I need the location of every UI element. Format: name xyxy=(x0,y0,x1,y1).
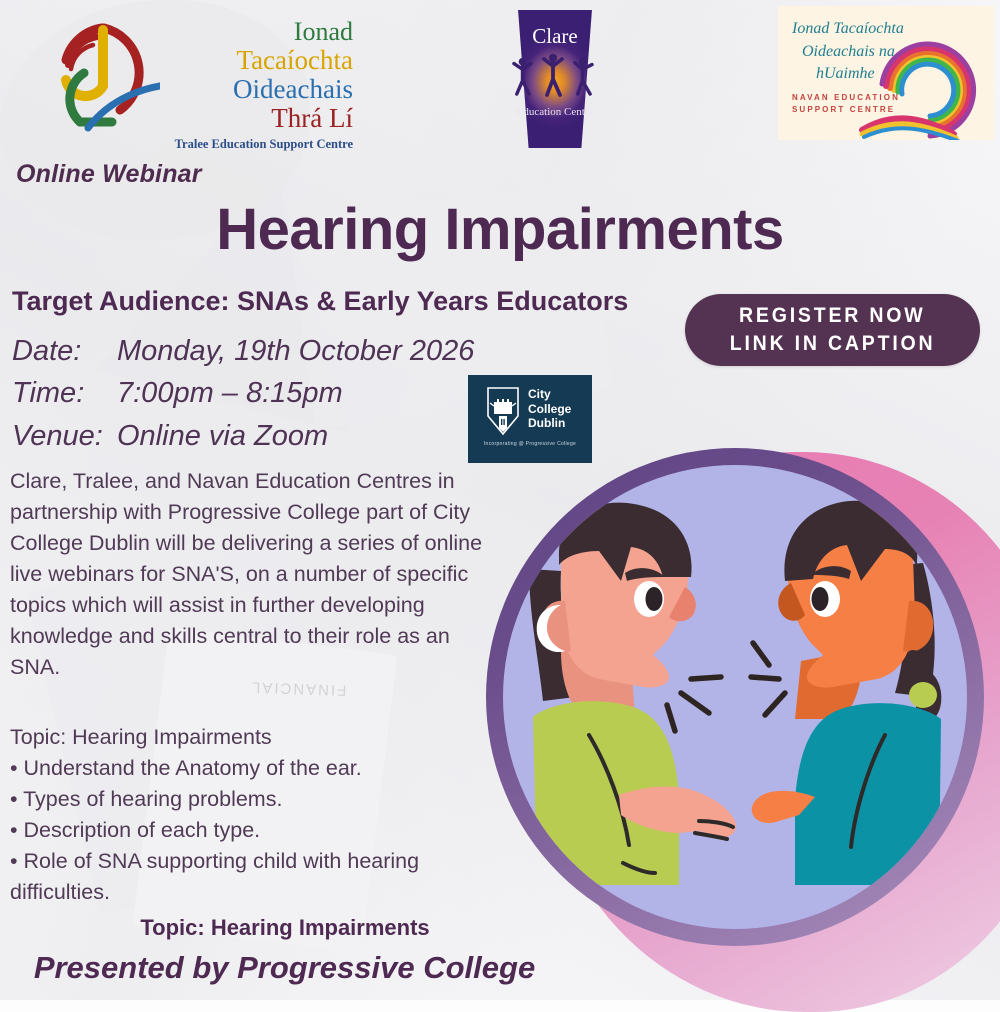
clare-logo-title: Clare xyxy=(495,24,615,49)
detail-label-venue: Venue: xyxy=(12,415,117,457)
tralee-swirl-icon xyxy=(40,18,160,133)
illustration-circle-frame xyxy=(486,448,984,946)
child-right xyxy=(752,501,942,885)
ccd-shield-castle-icon xyxy=(486,386,520,436)
kicker-online-webinar: Online Webinar xyxy=(16,160,202,189)
two-children-talking-illustration xyxy=(503,465,967,929)
ccd-wordmark: City College Dublin xyxy=(528,387,571,431)
clare-figures-icon xyxy=(499,50,611,112)
topic-item: • Role of SNA supporting child with hear… xyxy=(10,846,490,908)
topic-heading: Topic: Hearing Impairments xyxy=(10,722,490,753)
topic-item: • Types of hearing problems. xyxy=(10,784,490,815)
tralee-line-3: Oideachais xyxy=(158,75,353,104)
detail-label-date: Date: xyxy=(12,330,117,372)
register-line-2: LINK IN CAPTION xyxy=(730,330,936,358)
logo-navan-education-support-centre: Ionad Tacaíochta Oideachais na hUaimhe N… xyxy=(778,6,994,140)
tralee-line-1: Ionad xyxy=(158,18,353,46)
child-left-with-hearing-aid xyxy=(529,503,736,885)
footer-presented-by: Presented by Progressive College xyxy=(12,950,557,986)
detail-row-time: Time: 7:00pm – 8:15pm xyxy=(12,372,532,414)
page-title: Hearing Impairments xyxy=(0,196,1000,263)
detail-row-venue: Venue: Online via Zoom xyxy=(12,415,532,457)
topic-item: • Description of each type. xyxy=(10,815,490,846)
logo-row: Ionad Tacaíochta Oideachais Thrá Lí Tral… xyxy=(0,0,1000,155)
detail-label-time: Time: xyxy=(12,372,117,414)
body-paragraph: Clare, Tralee, and Navan Education Centr… xyxy=(10,466,488,683)
tralee-subtitle: Tralee Education Support Centre xyxy=(158,138,353,152)
ccd-incorporating-text: Incorporating @ Progressive College xyxy=(478,441,582,447)
topic-item: • Understand the Anatomy of the ear. xyxy=(10,753,490,784)
detail-value-date: Monday, 19th October 2026 xyxy=(117,330,532,372)
register-now-button[interactable]: REGISTER NOW LINK IN CAPTION xyxy=(685,294,980,366)
sound-wave-strokes xyxy=(667,643,785,731)
ccd-line-2: College xyxy=(528,402,571,417)
topic-list: Topic: Hearing Impairments • Understand … xyxy=(10,722,490,908)
tralee-wordmark: Ionad Tacaíochta Oideachais Thrá Lí Tral… xyxy=(158,18,353,151)
body-paragraph-wrapper: Clare, Tralee, and Navan Education Centr… xyxy=(10,466,488,683)
logo-city-college-dublin: City College Dublin Incorporating @ Prog… xyxy=(468,375,592,463)
detail-row-date: Date: Monday, 19th October 2026 xyxy=(12,330,532,372)
navan-rainbow-swoosh-icon xyxy=(858,38,994,140)
clare-logo-subtitle: Education Centre xyxy=(495,106,615,120)
tralee-line-4: Thrá Lí xyxy=(158,104,353,133)
tralee-line-2: Tacaíochta xyxy=(158,46,353,75)
footer-topic: Topic: Hearing Impairments xyxy=(0,915,570,941)
logo-tralee-education-support-centre: Ionad Tacaíochta Oideachais Thrá Lí Tral… xyxy=(40,10,350,150)
event-details: Date: Monday, 19th October 2026 Time: 7:… xyxy=(12,330,532,457)
target-audience-line: Target Audience: SNAs & Early Years Educ… xyxy=(12,286,628,317)
ccd-line-1: City xyxy=(528,387,571,402)
register-line-1: REGISTER NOW xyxy=(739,302,925,330)
ccd-line-3: Dublin xyxy=(528,416,571,431)
logo-clare-education-centre: Clare Education Centre xyxy=(495,6,615,151)
